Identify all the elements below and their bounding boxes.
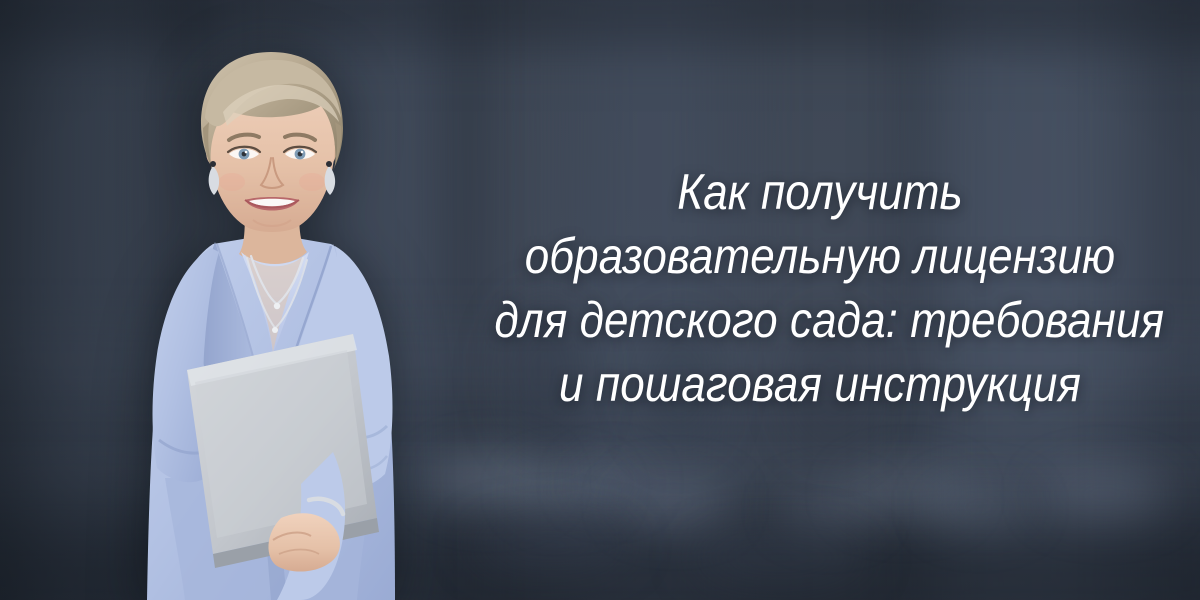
headline-line-1: Как получить — [494, 160, 1145, 224]
head — [201, 52, 343, 232]
banner-canvas: Как получить образовательную лицензию дл… — [0, 0, 1200, 600]
headline-line-3: для детского сада: требования — [494, 288, 1145, 352]
headline-line-2: образовательную лицензию — [494, 224, 1145, 288]
businesswoman-photo — [95, 48, 455, 600]
page-title: Как получить образовательную лицензию дл… — [494, 160, 1145, 416]
headline-line-4: и пошаговая инструкция — [494, 352, 1145, 416]
